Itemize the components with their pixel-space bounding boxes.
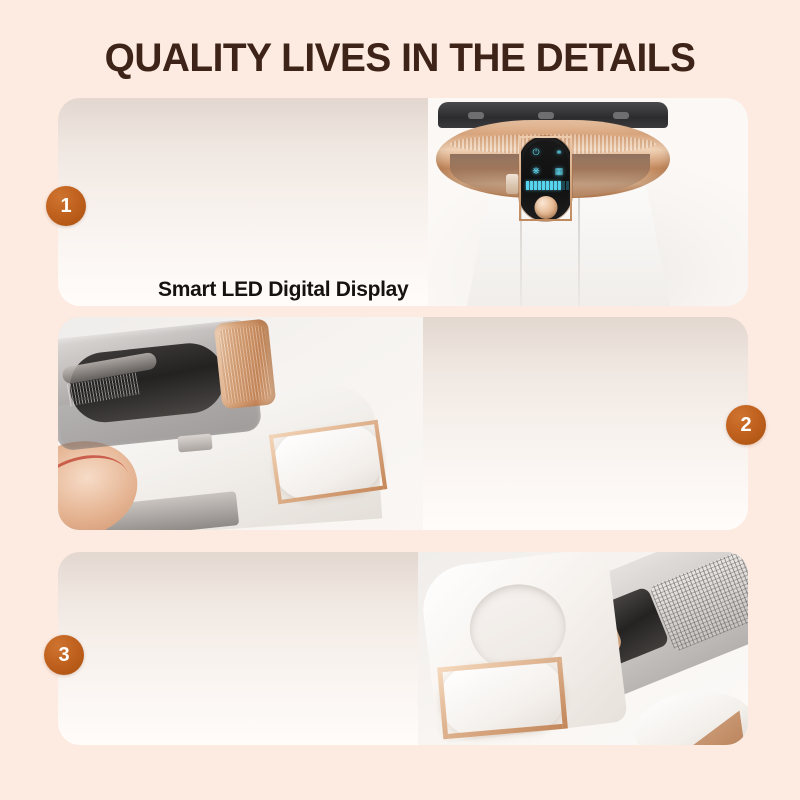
product-image-grip-handle	[418, 552, 748, 745]
skirt-seam-right	[578, 190, 580, 306]
led-icon-grid: ⏻ ⚭ ❋ ▦	[526, 145, 569, 179]
power-button[interactable]	[534, 196, 557, 219]
nozzle-tab	[506, 174, 519, 194]
filter-icon: ▦	[549, 164, 569, 179]
power-icon: ⏻	[526, 145, 546, 160]
feature-title-1: Smart LED Digital Display	[158, 277, 409, 303]
battery-segment-empty	[566, 181, 569, 190]
feature-badge-2: 2	[726, 405, 766, 445]
battery-segment	[554, 181, 557, 190]
feature-card-3: Ergonomic Grip Handle Labor-Saving Ergon…	[58, 552, 748, 745]
battery-segment	[558, 181, 561, 190]
led-display-capsule: ⏻ ⚭ ❋ ▦	[519, 136, 572, 221]
suction-icon: ❋	[526, 164, 546, 179]
battery-segment	[542, 181, 545, 190]
battery-level-bar	[526, 181, 569, 190]
top-vent-left	[468, 112, 484, 119]
product-image-dustbin	[58, 317, 423, 530]
brush-roll-icon: ⚭	[549, 145, 569, 160]
battery-segment	[526, 181, 529, 190]
battery-segment	[530, 181, 533, 190]
battery-segment	[538, 181, 541, 190]
feature-badge-3: 3	[44, 635, 84, 675]
release-tab	[177, 434, 212, 453]
page-title: QUALITY LIVES IN THE DETAILS	[12, 36, 788, 81]
battery-segment	[550, 181, 553, 190]
product-image-led-panel: ⏻ ⚭ ❋ ▦	[428, 98, 748, 306]
feature-badge-1: 1	[46, 186, 86, 226]
battery-segment	[534, 181, 537, 190]
battery-segment-empty	[562, 181, 565, 190]
rose-gold-cap	[214, 318, 277, 409]
feature-text-1: Smart LED Digital Display Easy Start, Cl…	[158, 277, 409, 306]
top-vent-right	[613, 112, 629, 119]
feature-card-1: ⏻ ⚭ ❋ ▦ Smart LED Digital Display	[58, 98, 748, 306]
battery-segment	[546, 181, 549, 190]
top-vent-mid	[538, 112, 554, 119]
feature-card-2: Dual Cyclonic Dustbin System 2.0 Upgrade…	[58, 317, 748, 530]
